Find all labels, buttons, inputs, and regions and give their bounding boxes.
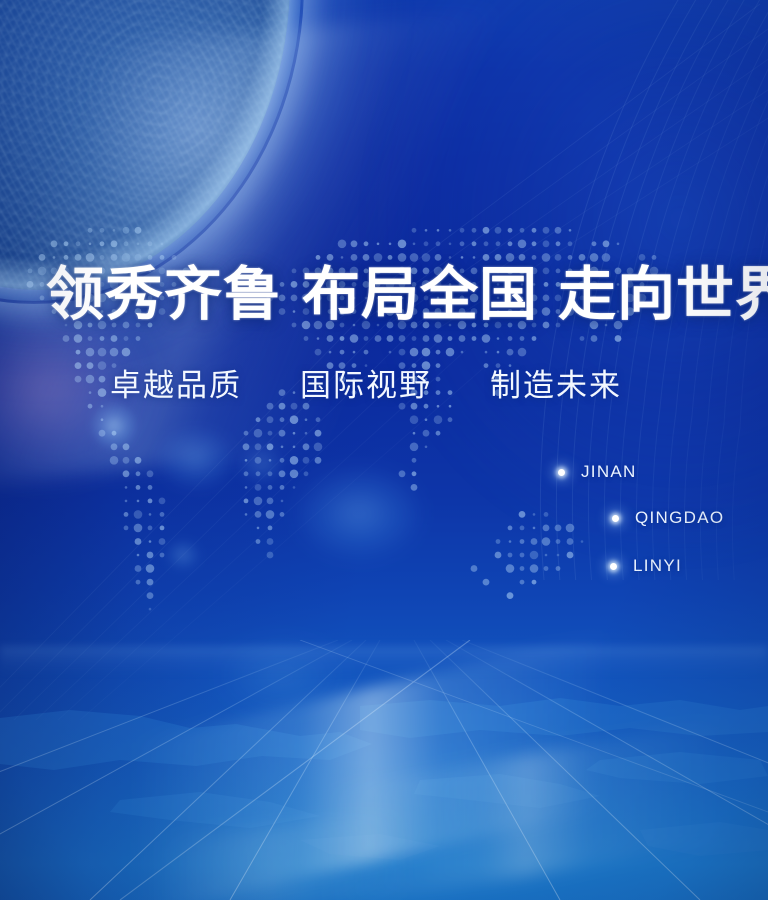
headline-segment-1: 领秀齐鲁 — [46, 262, 282, 327]
perspective-grid — [0, 640, 768, 900]
city-marker-qingdao: QINGDAO — [612, 508, 724, 528]
banner-stage: 领秀齐鲁布局全国走向世界 卓越品质国际视野制造未来 JINAN QINGDAO … — [0, 0, 768, 900]
map-pin-icon — [610, 563, 617, 570]
city-marker-jinan: JINAN — [558, 462, 637, 482]
subheadline-segment-1: 卓越品质 — [110, 368, 242, 403]
city-label-qingdao: QINGDAO — [635, 508, 724, 528]
map-pin-icon — [612, 515, 619, 522]
map-pin-icon — [558, 469, 565, 476]
headline-segment-2: 布局全国 — [302, 262, 538, 327]
banner-subheadline: 卓越品质国际视野制造未来 — [110, 368, 710, 404]
city-label-jinan: JINAN — [581, 462, 637, 482]
headline-segment-3: 走向世界 — [558, 262, 768, 327]
city-marker-linyi: LINYI — [610, 556, 682, 576]
subheadline-segment-2: 国际视野 — [300, 368, 432, 403]
banner-headline: 领秀齐鲁布局全国走向世界 — [46, 264, 736, 326]
city-label-linyi: LINYI — [633, 556, 682, 576]
subheadline-segment-3: 制造未来 — [490, 368, 622, 403]
